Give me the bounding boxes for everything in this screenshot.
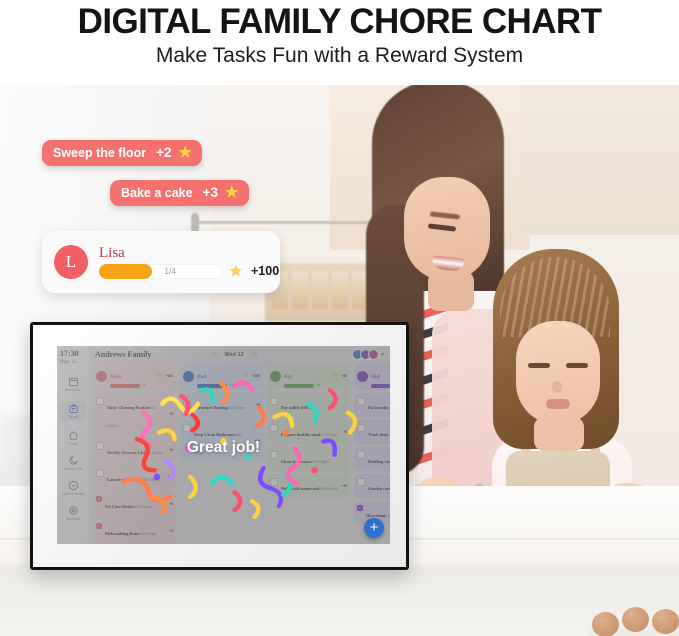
task-body: Prepare healthy meal10:15-00am: [281, 423, 340, 441]
task-points: +4: [169, 529, 173, 533]
photo-rail-end: [191, 213, 199, 233]
member-points: +100: [165, 374, 173, 378]
checklist-icon: [68, 403, 79, 414]
task-time: 8:30-5:00pm: [141, 478, 159, 482]
task-body: Pet Care Duties8:30-5:00pm: [105, 495, 166, 513]
task-checkbox[interactable]: [270, 478, 278, 486]
photo-jar: [292, 271, 308, 309]
task-points: +8: [343, 430, 347, 434]
sidebar-item-schedule[interactable]: Schedule: [59, 376, 87, 392]
avatar: [357, 371, 368, 382]
member-name: Girl: [371, 374, 380, 380]
progress-fraction: 1/4: [142, 383, 146, 387]
task-badge-bake[interactable]: Bake a cake +3 ★: [110, 180, 249, 206]
photo-girl-face: [516, 321, 600, 425]
member-progress-row: 1/4: [110, 383, 153, 388]
progress-bar: [284, 384, 314, 388]
status-clock: 17:30 May 12: [60, 350, 88, 365]
task-time: 10:15-00am: [320, 433, 337, 437]
sidebar-item-label: Screen Off: [64, 467, 82, 471]
task-body: Garden care4:00-5:00pm: [368, 477, 390, 495]
column-header-body: Mom1/4: [110, 365, 153, 388]
member-progress-row: 1/4: [197, 383, 240, 388]
task-time: 8:30-5:00pm: [311, 460, 329, 464]
progress-card-body: Lisa 1/4 ★ +100: [99, 246, 279, 279]
task-time: 4:30-5:00pm: [320, 487, 338, 491]
task-checkbox[interactable]: [183, 424, 191, 432]
sidebar-item-label: Schedule: [65, 388, 81, 392]
column-header-body: Boy1/4: [284, 365, 329, 388]
member-name: Lisa: [99, 246, 279, 261]
task-points: +6: [169, 502, 173, 506]
app-topbar: Andrews Family ‹ Wed 12 › ▾: [89, 346, 390, 363]
column-header-boy[interactable]: Boy1/4★+30: [267, 363, 350, 390]
member-progress-row: [371, 383, 390, 388]
task-time: 5:00pm: [307, 406, 318, 410]
task-body: Trash duty8:30-5:00pm: [368, 423, 390, 441]
task-row[interactable]: ✓Pet Care Duties8:30-5:00pm+6: [93, 492, 176, 516]
chevron-right-icon[interactable]: ›: [250, 350, 259, 359]
task-row[interactable]: Garden care4:00-5:00pm: [354, 474, 390, 498]
tablet-bezel: 17:30 May 12 Schedule To-do: [33, 325, 406, 567]
task-row[interactable]: ✓Dishwashing Rota8:30-5:00pm+4: [93, 519, 176, 543]
task-time: 8:30-5:00pm: [134, 505, 152, 509]
task-checkbox[interactable]: [357, 424, 365, 432]
column-header-mom[interactable]: Mom1/4★+100: [93, 363, 176, 390]
member-avatar-cluster[interactable]: ▾: [355, 349, 384, 360]
photo-girl-eye: [528, 363, 550, 368]
progress-bar: [371, 384, 390, 388]
task-time: 8:30-5:00pm: [385, 514, 390, 518]
date-navigator: ‹ Wed 12 ›: [210, 350, 259, 359]
calendar-icon: [68, 376, 79, 387]
chevron-left-icon[interactable]: ‹: [210, 350, 219, 359]
task-checkbox[interactable]: [183, 397, 191, 405]
star-icon: ★: [178, 145, 193, 160]
page-title: DIGITAL FAMILY CHORE CHART: [0, 2, 679, 42]
photo-wall-cabinet-right: [520, 85, 679, 235]
progress-fraction: 1/4: [164, 264, 176, 279]
task-title: Furniture Dusting: [194, 405, 227, 410]
progress-row: 1/4 ★ +100: [99, 264, 279, 279]
task-title: Bedding change: [368, 459, 390, 464]
task-title: Prepare healthy meal: [281, 432, 320, 437]
smiley-icon: [68, 480, 79, 491]
avatar: [368, 349, 379, 360]
task-row[interactable]: Help with homework4:30-5:00pm+10: [267, 474, 350, 498]
gear-icon: [68, 505, 79, 516]
task-points: +5: [256, 403, 260, 407]
add-task-button[interactable]: +: [364, 518, 384, 538]
photo-jar: [312, 271, 328, 309]
chevron-down-icon[interactable]: ▾: [381, 351, 384, 358]
task-row[interactable]: Do laundry4:00-5:00pm: [354, 393, 390, 417]
clock-date: May 12: [60, 359, 88, 365]
task-checkbox[interactable]: [96, 469, 104, 477]
task-body: Help with homework4:30-5:00pm: [281, 477, 339, 495]
member-points: +100: [252, 374, 260, 378]
task-badge-label: Bake a cake: [121, 186, 193, 200]
task-badge-points: +3: [203, 185, 218, 200]
reward-points: +100: [251, 264, 279, 278]
progress-fraction: 1/4: [316, 383, 320, 387]
task-title: Dishwashing Rota: [105, 531, 138, 536]
avatar: L: [54, 245, 88, 279]
task-body: Daily Cleaning Routine8:30-5:00pm: [107, 396, 166, 432]
task-row[interactable]: Daily Cleaning Routine8:30-5:00pm+5: [93, 393, 176, 435]
task-time: 8:30-5:00pm: [227, 406, 245, 410]
progress-bar-fill: [99, 264, 152, 279]
task-title: Help with homework: [281, 486, 320, 491]
task-checkbox[interactable]: [357, 478, 365, 486]
column-header-girl[interactable]: Girl★: [354, 363, 390, 390]
task-body: Laundry Schedule8:30-5:00pm: [107, 468, 165, 486]
sidebar-item-label: Settings: [66, 517, 80, 521]
task-badge-sweep[interactable]: Sweep the floor +2 ★: [42, 140, 202, 166]
photo-egg: [622, 607, 649, 632]
task-title: Deep Clean Bathroom: [194, 432, 235, 437]
task-badge-points: +2: [156, 145, 171, 160]
star-icon: ★: [332, 373, 338, 379]
task-points: +10: [168, 475, 173, 479]
task-title: Do laundry: [368, 405, 389, 410]
sidebar-item-label: To-do: [68, 415, 78, 419]
sidebar-item-to-do[interactable]: To-do: [59, 401, 87, 421]
clock-time: 17:30: [60, 350, 88, 359]
photo-egg: [592, 612, 619, 636]
member-name: Dad: [197, 374, 206, 380]
member-progress-card[interactable]: L Lisa 1/4 ★ +100: [42, 231, 280, 293]
star-icon: ★: [156, 373, 162, 379]
page-subtitle: Make Tasks Fun with a Reward System: [0, 44, 679, 68]
avatar: [183, 371, 194, 382]
task-title: Pay utility bill: [281, 405, 307, 410]
photo-egg: [652, 609, 679, 634]
task-title: Clean bathroom: [281, 459, 311, 464]
task-checkbox[interactable]: [270, 424, 278, 432]
task-title: Hoovering: [366, 513, 385, 518]
task-title: Garden care: [368, 486, 390, 491]
column-header-body: Dad1/4: [197, 365, 240, 388]
member-points: +30: [341, 374, 347, 378]
sidebar-item-label: Unlock Mode: [62, 492, 84, 496]
task-checkbox[interactable]: [357, 397, 365, 405]
task-time: 8:30-5:00pm: [138, 532, 156, 536]
member-name: Mom: [110, 374, 122, 380]
task-time: 4:00-5:00pm: [389, 406, 390, 410]
task-points: +5: [169, 412, 173, 416]
task-row[interactable]: Furniture Dusting8:30-5:00pm+5: [180, 393, 263, 417]
member-name: Boy: [284, 374, 293, 380]
task-title: Laundry Schedule: [107, 477, 141, 482]
tablet-screen[interactable]: 17:30 May 12 Schedule To-do: [57, 346, 390, 544]
task-checkbox[interactable]: [96, 397, 104, 405]
task-row[interactable]: Laundry Schedule8:30-5:00pm+10: [93, 465, 176, 489]
task-body: Pay utility bill5:00pm: [281, 396, 347, 414]
family-title: Andrews Family: [95, 350, 152, 359]
photo-girl-eye: [566, 363, 588, 368]
task-checkbox[interactable]: ✓: [357, 505, 363, 511]
task-title: Daily Cleaning Routine: [107, 405, 150, 410]
task-checkbox[interactable]: ✓: [96, 496, 102, 502]
task-body: Do laundry4:00-5:00pm: [368, 396, 390, 414]
task-title: Trash duty: [368, 432, 388, 437]
star-icon: ★: [243, 373, 249, 379]
task-time: 8:30-5:00pm: [388, 433, 390, 437]
photo-girl-lip: [546, 399, 570, 409]
sidebar-item-unlock-mode[interactable]: Unlock Mode: [59, 480, 87, 496]
task-checkbox[interactable]: [270, 397, 278, 405]
celebration-message: Great job!: [57, 439, 390, 457]
avatar: [270, 371, 281, 382]
photo-girl-nose: [552, 381, 562, 393]
task-body: Dishwashing Rota8:30-5:00pm: [105, 522, 166, 540]
task-title: Pet Care Duties: [105, 504, 134, 509]
member-progress-row: 1/4: [284, 383, 329, 388]
column-header-body: Girl: [371, 365, 390, 388]
progress-bar: 1/4: [99, 264, 222, 279]
task-body: Furniture Dusting8:30-5:00pm: [194, 396, 253, 414]
page-root: DIGITAL FAMILY CHORE CHART Make Tasks Fu…: [0, 0, 679, 636]
sidebar-item-screen-off[interactable]: Screen Off: [59, 455, 87, 471]
task-points: +10: [342, 484, 347, 488]
column-header-dad[interactable]: Dad1/4★+100: [180, 363, 263, 390]
avatar: [96, 371, 107, 382]
progress-bar: [110, 384, 140, 388]
photo-jar: [332, 271, 348, 309]
task-row[interactable]: Pay utility bill5:00pm: [267, 393, 350, 417]
task-checkbox[interactable]: ✓: [96, 523, 102, 529]
date-label: Wed 12: [225, 352, 244, 358]
task-badge-label: Sweep the floor: [53, 146, 146, 160]
star-icon: ★: [225, 185, 240, 200]
sidebar-item-settings[interactable]: Settings: [59, 505, 87, 521]
star-icon: ★: [229, 264, 244, 279]
progress-fraction: 1/4: [229, 383, 233, 387]
tablet-device: 17:30 May 12 Schedule To-do: [30, 322, 409, 570]
progress-bar: [197, 384, 227, 388]
